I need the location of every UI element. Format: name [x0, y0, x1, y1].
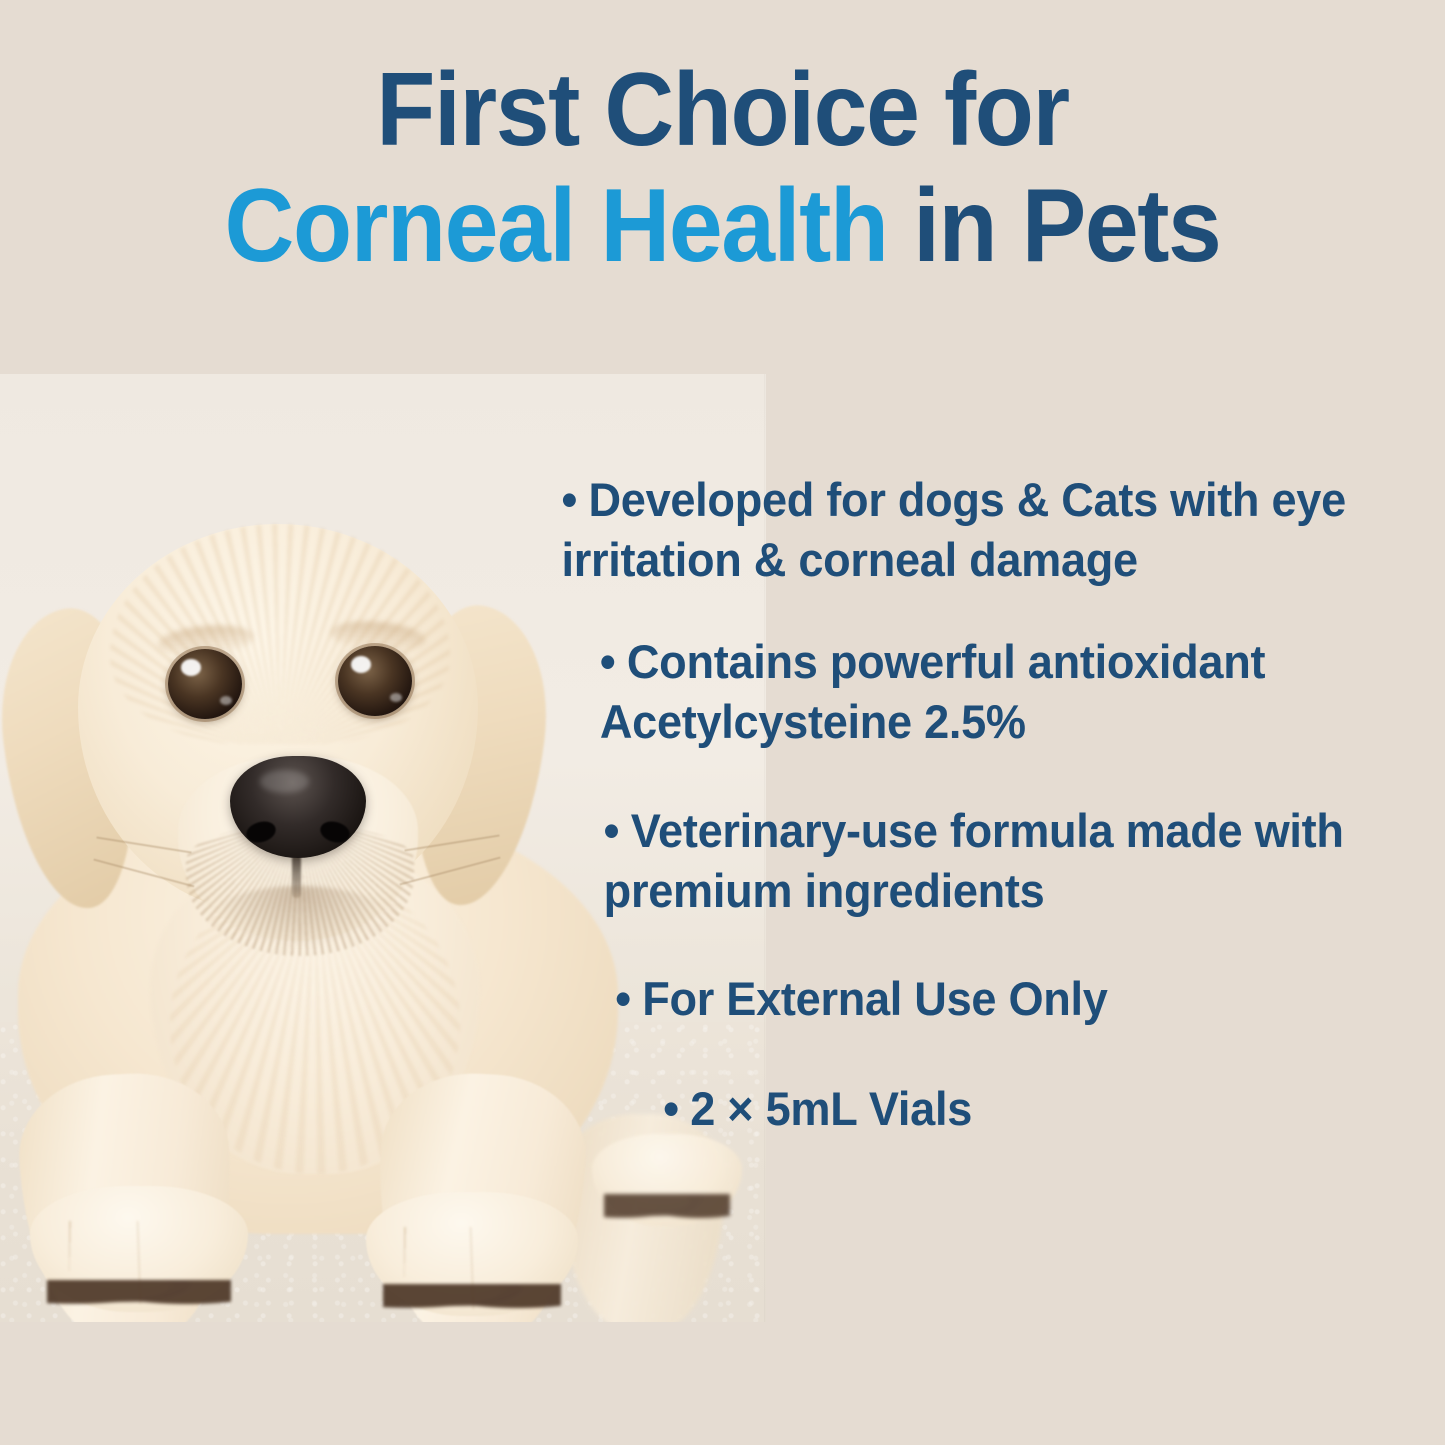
list-item: •Veterinary-use formula made with premiu…	[548, 801, 1402, 921]
puppy-paw-left	[30, 1186, 248, 1312]
product-feature-graphic: First Choice for Corneal Health in Pets	[0, 0, 1445, 1445]
feature-bullet-list: •Developed for dogs & Cats with eye irri…	[548, 470, 1402, 1181]
bullet-icon: •	[600, 635, 616, 688]
bullet-text: For External Use Only	[642, 972, 1107, 1025]
bullet-text: Contains powerful antioxidant Acetylcyst…	[600, 635, 1265, 748]
headline-line-2: Corneal Health in Pets	[51, 168, 1395, 284]
list-item: •2 × 5mL Vials	[548, 1079, 1402, 1139]
list-item: •Contains powerful antioxidant Acetylcys…	[548, 632, 1402, 752]
bullet-text: 2 × 5mL Vials	[690, 1082, 972, 1135]
list-item: •For External Use Only	[548, 969, 1402, 1029]
headline-line-1: First Choice for	[51, 52, 1395, 168]
headline-accent-text: Corneal Health	[225, 168, 888, 284]
puppy-eye-right	[338, 646, 412, 716]
bullet-text: Developed for dogs & Cats with eye irrit…	[561, 473, 1345, 586]
puppy-paw-right	[366, 1192, 578, 1316]
puppy-eye-left	[168, 649, 242, 719]
headline-line-2-rest: in Pets	[888, 168, 1221, 284]
bullet-icon: •	[604, 804, 620, 857]
bullet-icon: •	[663, 1082, 679, 1135]
page-title: First Choice for Corneal Health in Pets	[51, 52, 1395, 285]
bullet-icon: •	[615, 972, 631, 1025]
bullet-text: Veterinary-use formula made with premium…	[604, 804, 1344, 917]
bullet-icon: •	[561, 473, 577, 526]
list-item: •Developed for dogs & Cats with eye irri…	[548, 470, 1402, 590]
